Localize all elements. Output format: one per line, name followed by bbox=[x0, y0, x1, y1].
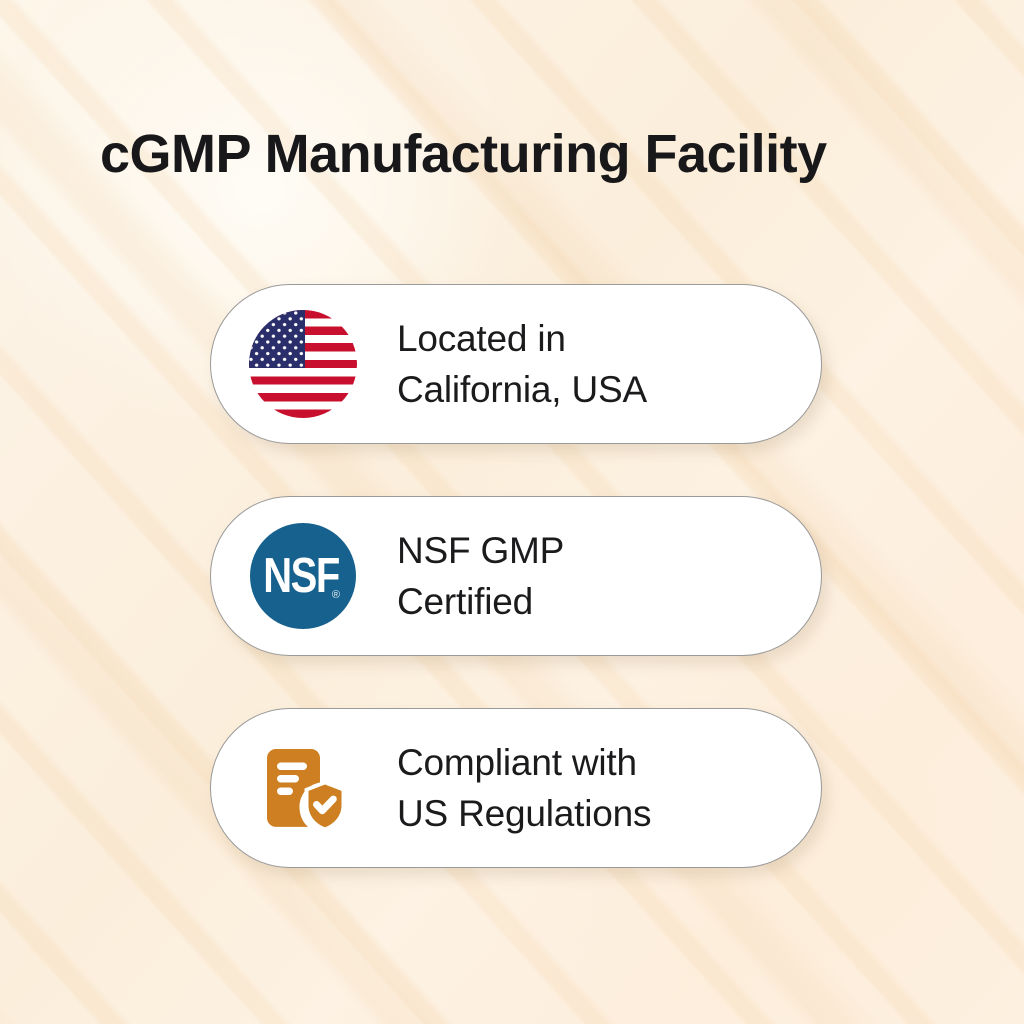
card-icon-wrapper bbox=[247, 308, 359, 420]
feature-card-compliance[interactable]: Compliant with US Regulations bbox=[210, 708, 822, 868]
feature-card-location[interactable]: Located in California, USA bbox=[210, 284, 822, 444]
document-shield-check-icon bbox=[253, 738, 353, 838]
feature-card-label: Located in California, USA bbox=[397, 313, 647, 415]
infographic-canvas: cGMP Manufacturing Facility Located in C… bbox=[0, 0, 1024, 1024]
nsf-logo-text: NSF bbox=[263, 552, 343, 601]
feature-card-label: NSF GMP Certified bbox=[397, 525, 564, 627]
card-icon-wrapper: NSF ® bbox=[247, 520, 359, 632]
nsf-logo-icon: NSF ® bbox=[250, 523, 356, 629]
flag-canton-stars bbox=[249, 310, 305, 368]
feature-card-list: Located in California, USA NSF ® NSF GMP… bbox=[210, 284, 822, 868]
us-flag-icon bbox=[249, 310, 357, 418]
page-title: cGMP Manufacturing Facility bbox=[100, 122, 960, 186]
card-icon-wrapper bbox=[247, 732, 359, 844]
registered-trademark-icon: ® bbox=[332, 590, 340, 601]
feature-card-nsf[interactable]: NSF ® NSF GMP Certified bbox=[210, 496, 822, 656]
feature-card-label: Compliant with US Regulations bbox=[397, 737, 651, 839]
